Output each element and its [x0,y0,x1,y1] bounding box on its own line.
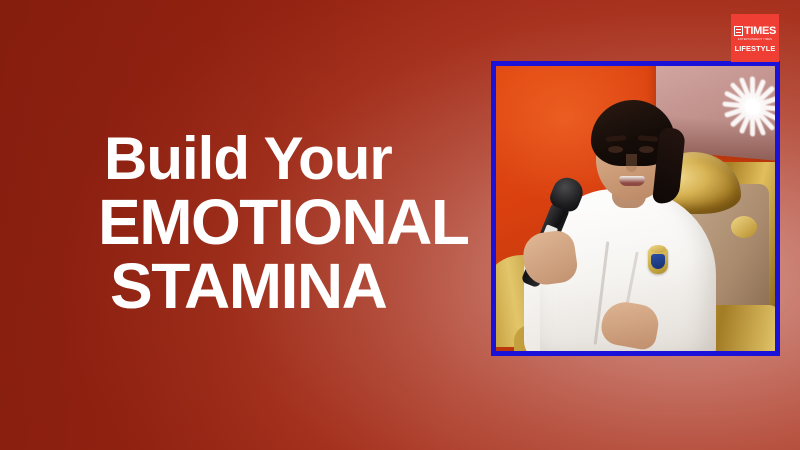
eye-right [639,146,654,153]
mouth [619,176,645,186]
badge-inner [651,254,665,269]
starburst-center [745,98,760,114]
lapel-badge [648,248,668,274]
headline-line-2: EMOTIONAL [98,190,468,254]
photo-inner [496,66,775,351]
badge-top [650,245,666,253]
logo-section-text: LIFESTYLE [735,44,776,53]
page-title: Build Your EMOTIONAL STAMINA [100,128,468,318]
headline-line-1: Build Your [104,128,468,190]
starburst-emblem-icon [718,69,775,143]
etimes-e-icon [734,26,743,36]
eye-left [608,146,623,153]
etimes-lifestyle-logo[interactable]: TIMES ENTERTAINMENT TIMES LIFESTYLE [731,14,779,62]
logo-brand-text: TIMES [744,26,776,37]
thumbnail-canvas: Build Your EMOTIONAL STAMINA [0,0,800,450]
speaker-photo [491,61,780,356]
nose [626,154,637,172]
headline-line-3: STAMINA [110,254,468,318]
logo-tagline: ENTERTAINMENT TIMES [738,37,772,40]
logo-wordmark: TIMES [734,26,776,37]
throne-scroll-ornament [731,216,757,238]
